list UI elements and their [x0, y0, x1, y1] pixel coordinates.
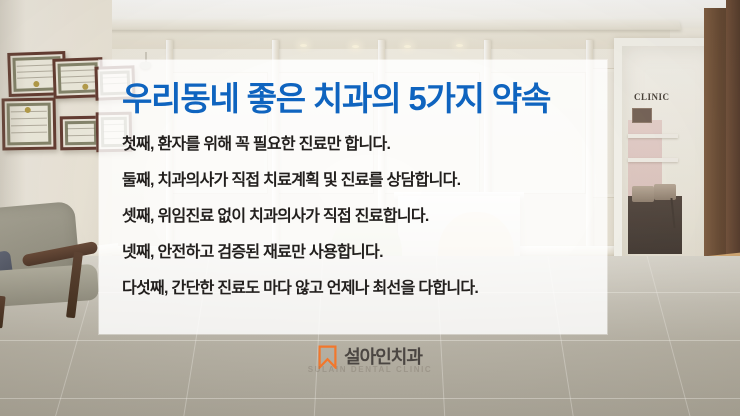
ceiling-downlight — [456, 44, 463, 47]
ceiling-downlight — [352, 45, 359, 48]
promise-list: 첫째, 환자를 위해 꼭 필요한 진료만 합니다. 둘째, 치과의사가 직접 치… — [122, 137, 607, 297]
ceiling-cove-trim — [85, 20, 681, 30]
promise-panel: 우리동네 좋은 치과의 5가지 약속 첫째, 환자를 위해 꼭 필요한 진료만 … — [99, 60, 607, 334]
page-title: 우리동네 좋은 치과의 5가지 약속 — [122, 82, 607, 117]
list-item: 첫째, 환자를 위해 꼭 필요한 진료만 합니다. — [122, 137, 607, 153]
ceiling-downlight — [404, 45, 411, 48]
brand-name: 설아인치과 — [344, 348, 422, 366]
ceiling-downlight — [300, 44, 307, 47]
brand-subtitle: SULAIN DENTAL CLINIC — [0, 366, 740, 374]
list-item: 다섯째, 간단한 진료도 마다 않고 언제나 최선을 다합니다. — [122, 281, 607, 297]
list-item: 넷째, 안전하고 검증된 재료만 사용합니다. — [122, 245, 607, 261]
floor-seam — [0, 398, 740, 399]
floor-seam — [0, 340, 740, 341]
list-item: 둘째, 치과의사가 직접 치료계획 및 진료를 상담합니다. — [122, 173, 607, 189]
banner-stage: CLINIC — [0, 0, 740, 416]
list-item: 셋째, 위임진료 없이 치과의사가 직접 진료합니다. — [122, 209, 607, 225]
